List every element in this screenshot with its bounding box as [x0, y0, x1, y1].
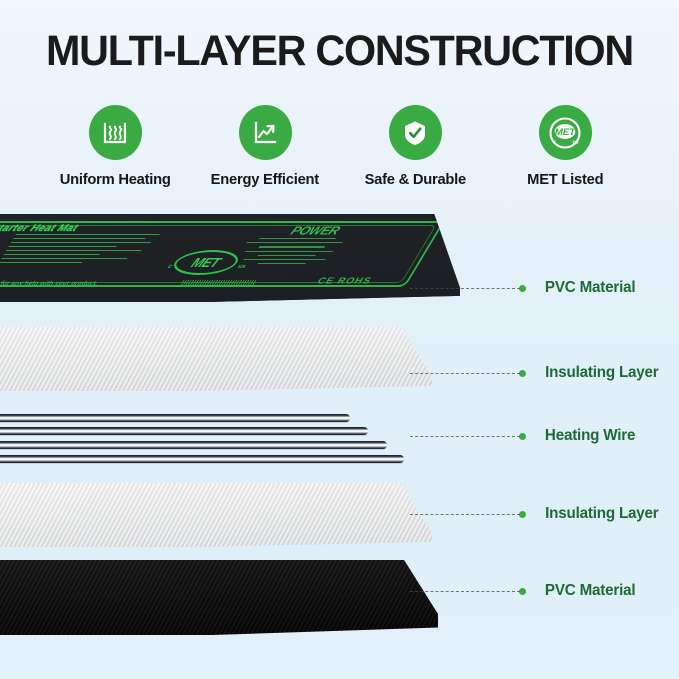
feature-badges-row: Uniform Heating Energy Efficient Safe — [40, 105, 640, 210]
layer-top-pvc-mat: d Starter Heat Mat POWER MET c us CE ROH… — [0, 214, 460, 302]
callout-label: Heating Wire — [545, 427, 635, 445]
heating-wire — [0, 414, 350, 422]
met-listed-badge-icon: MET c us — [539, 105, 592, 160]
svg-text:c: c — [553, 139, 556, 145]
header-section: MULTI-LAYER CONSTRUCTION Uniform Heating — [0, 0, 679, 214]
layer-lower-insulating-sheet — [0, 483, 432, 547]
feature-label: Energy Efficient — [211, 171, 319, 188]
callout-top-pvc-mat: PVC Material — [410, 278, 636, 298]
svg-text:us: us — [572, 139, 578, 145]
mat-power-text: POWER — [288, 224, 343, 238]
callout-upper-insulating-sheet: Insulating Layer — [410, 363, 660, 383]
mat-met-logo-text: MET — [189, 256, 223, 269]
callout-label: PVC Material — [545, 279, 636, 297]
leader-line — [410, 373, 520, 374]
layer-upper-insulating-sheet — [0, 327, 432, 391]
leader-dot — [519, 511, 526, 518]
callout-label: Insulating Layer — [545, 364, 658, 382]
heating-wire — [0, 441, 387, 449]
leader-line — [410, 436, 520, 437]
callout-bottom-pvc-sheet: PVC Material — [410, 581, 636, 601]
mat-certification-marks: CE ROHS — [315, 277, 373, 287]
feature-safe-durable: Safe & Durable — [340, 105, 490, 188]
callout-lower-insulating-sheet: Insulating Layer — [410, 504, 660, 524]
page-title: MULTI-LAYER CONSTRUCTION — [14, 27, 666, 75]
mat-product-title: d Starter Heat Mat — [0, 222, 81, 233]
heating-wire — [0, 455, 404, 463]
mat-barcode — [180, 280, 257, 285]
leader-dot — [519, 588, 526, 595]
layer-bottom-pvc-sheet — [0, 560, 438, 635]
mat-footer-text: ....com for any help with your product. — [0, 280, 99, 286]
shield-check-icon — [389, 105, 442, 160]
leader-dot — [519, 285, 526, 292]
callout-label: PVC Material — [545, 582, 636, 600]
layer-heating-wire-bundle — [0, 414, 456, 472]
feature-met-listed: MET c us MET Listed — [490, 105, 640, 188]
feature-uniform-heating: Uniform Heating — [40, 105, 190, 188]
leader-line — [410, 591, 520, 592]
feature-label: Uniform Heating — [60, 171, 171, 188]
callout-label: Insulating Layer — [545, 505, 658, 523]
heating-wire — [0, 427, 368, 435]
feature-label: MET Listed — [527, 171, 603, 188]
svg-text:MET: MET — [555, 127, 576, 138]
feature-energy-efficient: Energy Efficient — [190, 105, 340, 188]
leader-line — [410, 514, 520, 515]
callout-heating-wire-bundle: Heating Wire — [410, 426, 636, 446]
leader-dot — [519, 370, 526, 377]
leader-line — [410, 288, 520, 289]
mat-printed-text-block-left — [0, 234, 166, 274]
exploded-layer-diagram: d Starter Heat Mat POWER MET c us CE ROH… — [0, 214, 679, 679]
feature-label: Safe & Durable — [364, 171, 465, 188]
heating-waves-icon — [89, 105, 142, 160]
chart-uptrend-icon — [239, 105, 292, 160]
leader-dot — [519, 433, 526, 440]
